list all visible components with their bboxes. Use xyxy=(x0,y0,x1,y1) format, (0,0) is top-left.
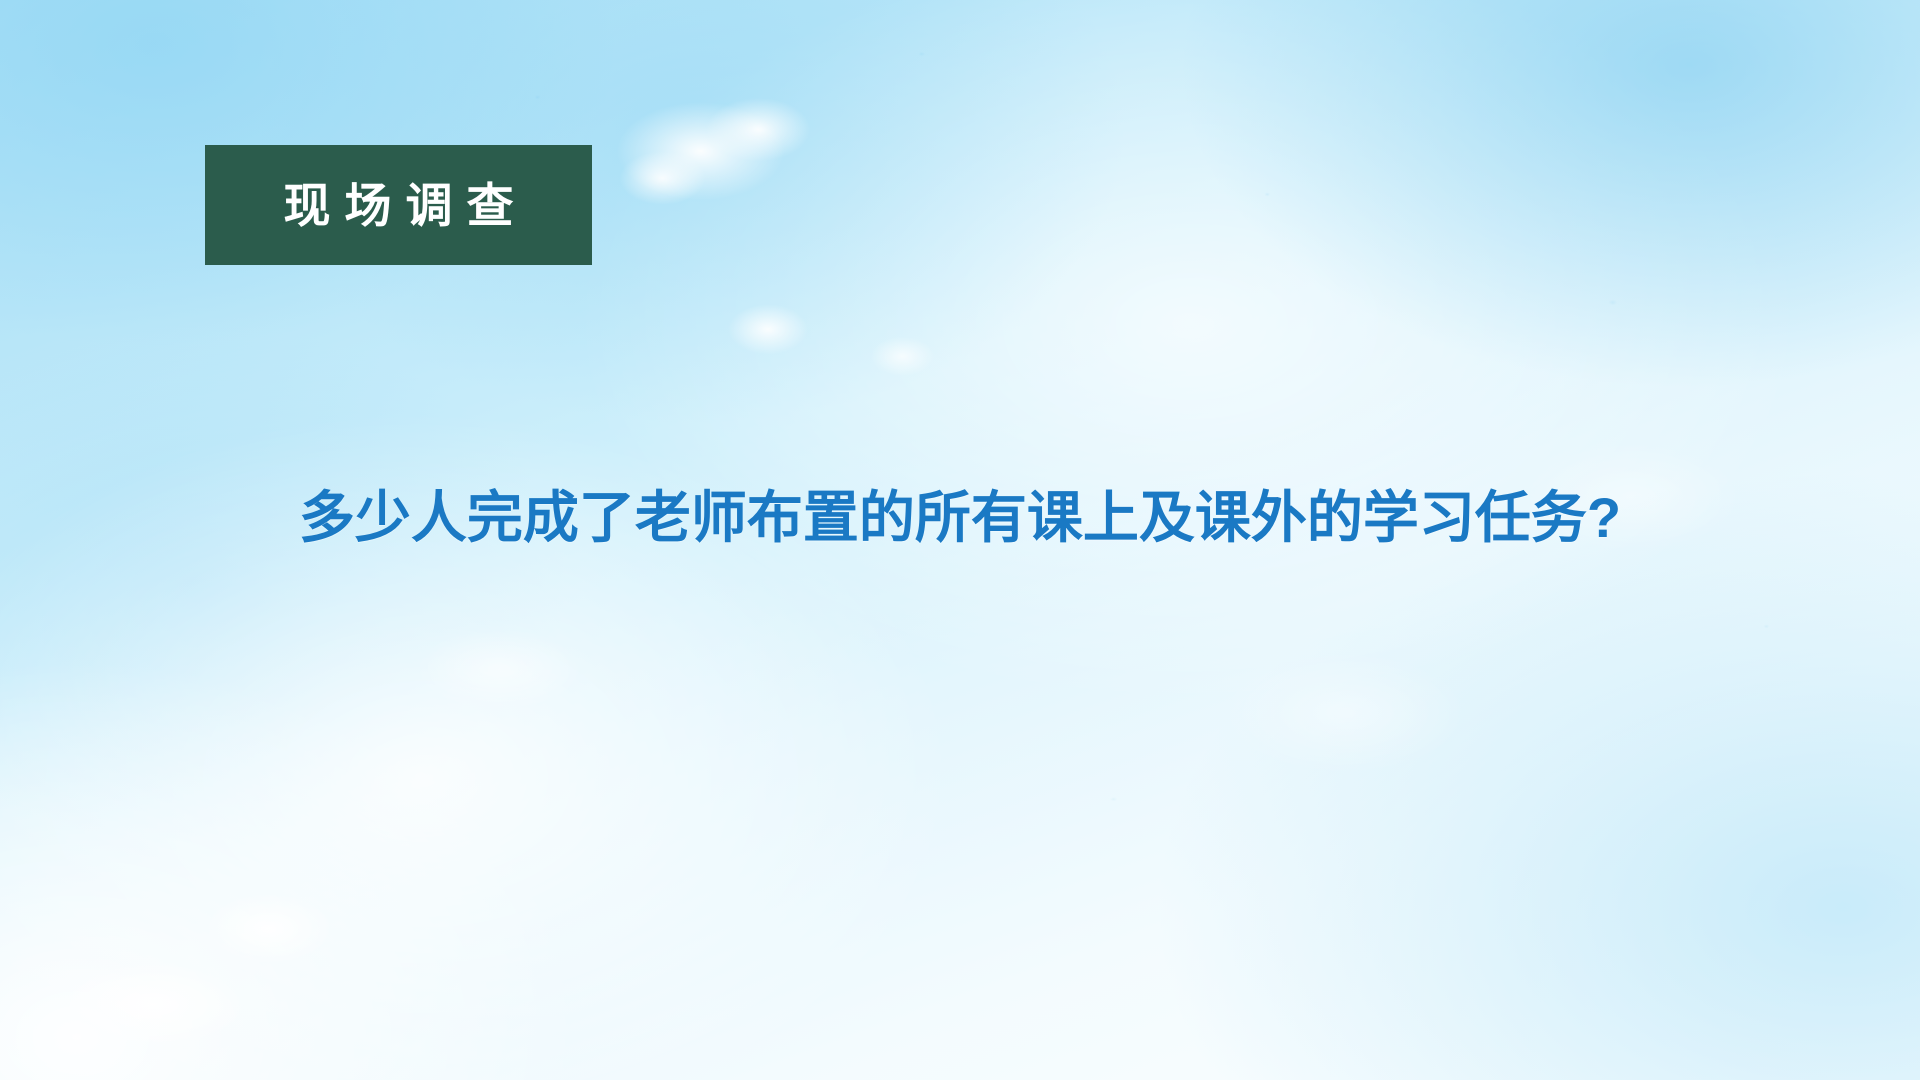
question-block: 多少人完成了老师布置的所有课上及课外的学习任务? xyxy=(0,484,1920,551)
section-badge: 现场调查 xyxy=(205,145,592,265)
section-badge-label: 现场调查 xyxy=(270,182,528,229)
question-text: 多少人完成了老师布置的所有课上及课外的学习任务? xyxy=(299,484,1621,551)
slide-canvas: 现场调查 多少人完成了老师布置的所有课上及课外的学习任务? xyxy=(0,0,1920,1080)
